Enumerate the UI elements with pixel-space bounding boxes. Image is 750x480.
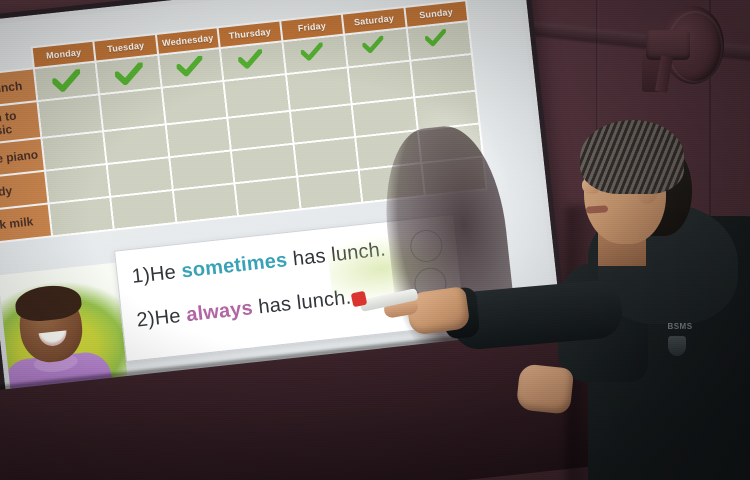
student: BSMS bbox=[470, 86, 750, 480]
check-icon bbox=[114, 62, 143, 85]
check-icon bbox=[362, 35, 391, 58]
student-hair bbox=[580, 120, 684, 194]
sentence-1: 1)He sometimes has lunch. bbox=[131, 238, 387, 288]
row-label-drink-milk: drink milk bbox=[0, 204, 52, 247]
sentence-2-highlight: always bbox=[185, 297, 254, 326]
sentence-1-before: He bbox=[149, 261, 183, 286]
cell-milk-saturday[interactable] bbox=[359, 163, 425, 203]
cell-milk-thursday[interactable] bbox=[235, 177, 301, 217]
check-icon bbox=[176, 55, 205, 78]
sentence-2: 2)He always has lunch. bbox=[136, 286, 353, 332]
check-icon bbox=[425, 28, 454, 51]
sentence-2-after: has lunch. bbox=[252, 286, 353, 319]
check-icon bbox=[52, 69, 81, 92]
cell-milk-friday[interactable] bbox=[297, 170, 363, 210]
option-circle-1[interactable] bbox=[409, 228, 444, 263]
stylus-tip-icon bbox=[351, 291, 368, 308]
student-head bbox=[580, 120, 684, 248]
check-icon bbox=[300, 42, 329, 65]
student-resting-hand bbox=[516, 363, 575, 414]
hoodie-logo: BSMS bbox=[660, 322, 700, 348]
cell-milk-tuesday[interactable] bbox=[111, 190, 177, 230]
sentence-2-before: He bbox=[154, 304, 188, 329]
sentence-1-after: has lunch. bbox=[286, 238, 387, 271]
cell-milk-monday[interactable] bbox=[49, 197, 115, 237]
cell-milk-wednesday[interactable] bbox=[173, 183, 239, 223]
classroom-scene: Monday Tuesday Wednesday Thursday Friday… bbox=[0, 0, 750, 480]
weekly-routine-table[interactable]: Monday Tuesday Wednesday Thursday Friday… bbox=[0, 0, 488, 247]
sentence-1-highlight: sometimes bbox=[180, 249, 288, 282]
check-icon bbox=[238, 49, 267, 72]
